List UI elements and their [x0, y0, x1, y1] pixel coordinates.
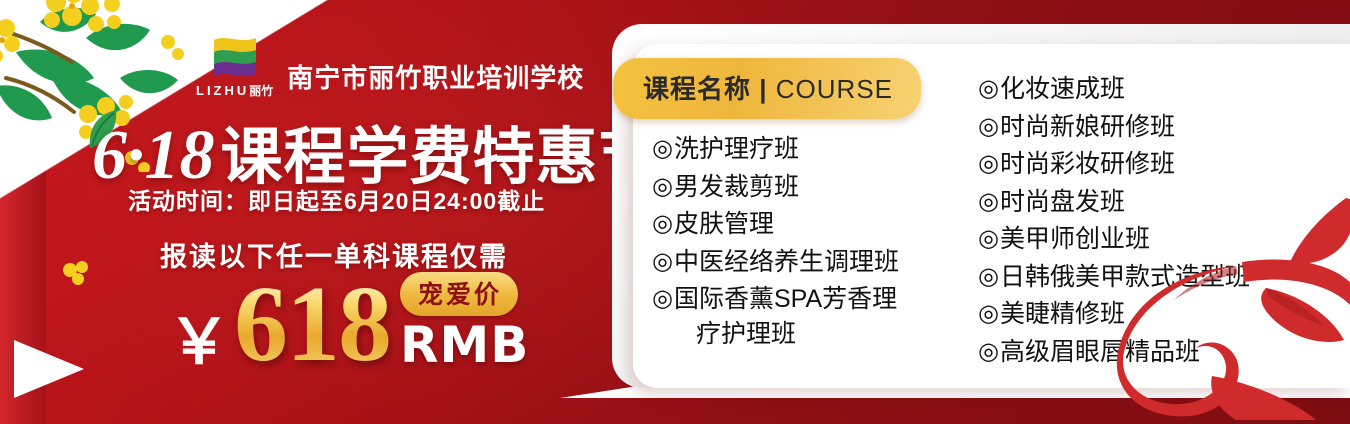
favorite-price-badge: 宠爱价 — [400, 272, 518, 316]
course-item-label: 洗护理疗班 — [674, 132, 799, 167]
logo: LIZHU丽竹 — [196, 36, 273, 99]
course-item-label: 男发裁剪班 — [674, 170, 799, 205]
brand-block: LIZHU丽竹 南宁市丽竹职业培训学校 — [196, 36, 584, 99]
course-item-label: 时尚盘发班 — [1000, 185, 1125, 220]
bullet-icon: ◎ — [978, 185, 999, 219]
logo-word-cn: 丽竹 — [249, 84, 273, 98]
course-item[interactable]: ◎ 化妆速成班 — [978, 72, 1308, 107]
bullet-icon: ◎ — [978, 222, 999, 256]
bullet-icon: ◎ — [652, 207, 673, 241]
bullet-icon: ◎ — [978, 297, 999, 331]
bullet-icon: ◎ — [652, 282, 673, 316]
course-item-label: 皮肤管理 — [674, 207, 774, 242]
course-item-label: 中医经络养生调理班 — [674, 245, 899, 280]
course-item[interactable]: ◎ 时尚新娘研修班 — [978, 110, 1308, 145]
course-badge-cn: 课程名称 — [643, 74, 751, 104]
bullet-icon: ◎ — [978, 110, 999, 144]
logo-wordmark: LIZHU丽竹 — [196, 82, 273, 99]
price-amount: 618 — [230, 279, 394, 372]
wavy-flag-icon — [206, 36, 264, 80]
school-name: 南宁市丽竹职业培训学校 — [287, 58, 584, 99]
promo-banner: LIZHU丽竹 南宁市丽竹职业培训学校 6·18课程学费特惠节 活动时间：即日起… — [0, 0, 1350, 424]
bullet-icon: ◎ — [652, 132, 673, 166]
course-item-line1: 国际香薰SPA芳香理 — [674, 285, 897, 313]
course-item-label: 国际香薰SPA芳香理疗护理班 — [674, 282, 897, 351]
course-item[interactable]: ◎ 中医经络养生调理班 — [652, 245, 952, 280]
course-column-left: ◎ 洗护理疗班 ◎ 男发裁剪班 ◎ 皮肤管理 ◎ 中医经络养生调理班 ◎ 国际香… — [652, 132, 952, 372]
bullet-icon: ◎ — [978, 147, 999, 181]
bullet-icon: ◎ — [652, 170, 673, 204]
course-title-badge: 课程名称 | COURSE — [613, 58, 921, 119]
red-ribbon-icon — [1116, 170, 1350, 420]
course-item[interactable]: ◎ 国际香薰SPA芳香理疗护理班 — [652, 282, 952, 351]
course-item-label: 美睫精修班 — [1000, 297, 1125, 332]
currency-symbol: ￥ — [168, 313, 230, 372]
course-item-label: 化妆速成班 — [1000, 72, 1125, 107]
bullet-icon: ◎ — [652, 245, 673, 279]
price-block: ￥ 618 宠爱价 RMB — [168, 272, 529, 372]
course-item-line2: 疗护理班 — [674, 317, 897, 352]
course-item-label: 时尚新娘研修班 — [1000, 110, 1175, 145]
bullet-icon: ◎ — [978, 72, 999, 106]
logo-word-en: LIZHU — [196, 83, 249, 98]
bullet-icon: ◎ — [978, 335, 999, 369]
course-item[interactable]: ◎ 皮肤管理 — [652, 207, 952, 242]
price-unit: RMB — [400, 320, 529, 370]
course-item[interactable]: ◎ 男发裁剪班 — [652, 170, 952, 205]
small-flower-icon — [56, 258, 96, 292]
course-item[interactable]: ◎ 洗护理疗班 — [652, 132, 952, 167]
bottom-left-white-triangle — [14, 340, 84, 398]
event-time-subtitle: 活动时间：即日起至6月20日24:00截止 — [128, 182, 545, 216]
course-badge-en: COURSE — [776, 74, 893, 104]
bullet-icon: ◎ — [978, 260, 999, 294]
course-badge-divider: | — [759, 74, 767, 104]
price-side-stack: 宠爱价 RMB — [400, 272, 529, 372]
